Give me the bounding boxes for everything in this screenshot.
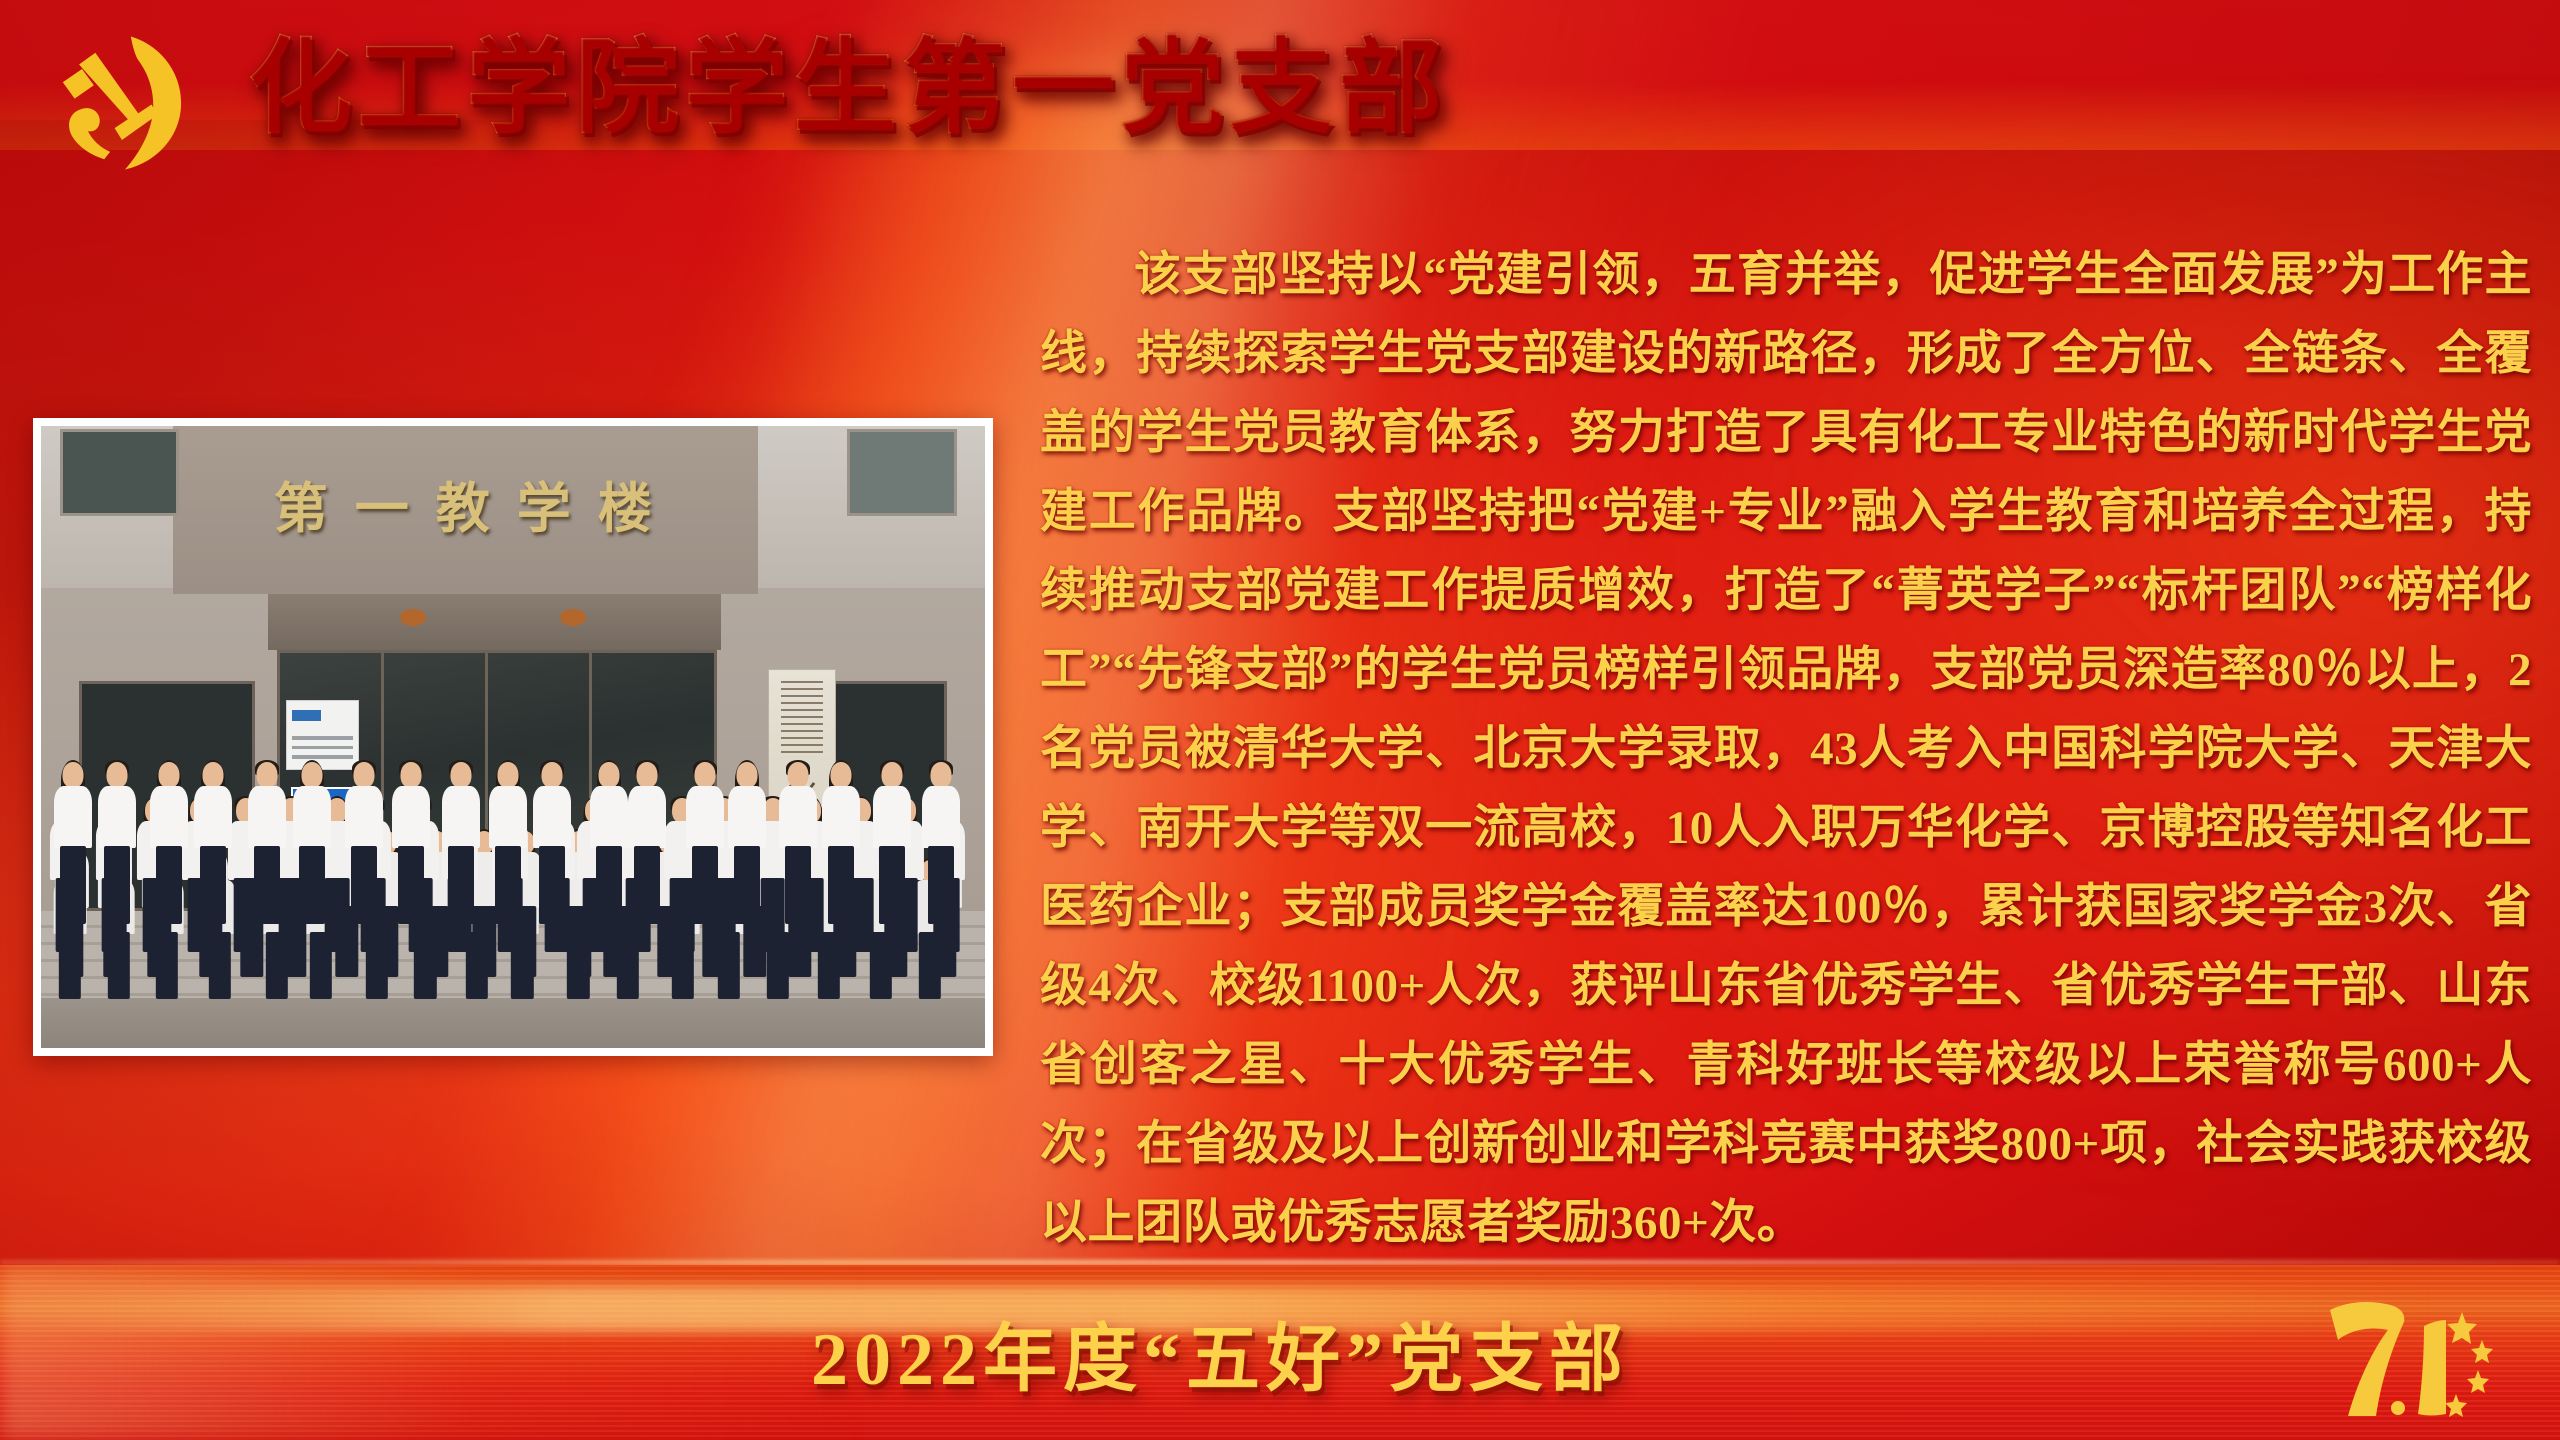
cpc-hammer-sickle-emblem <box>44 32 194 174</box>
photo-window-top-left <box>60 429 179 516</box>
photo-person <box>775 762 821 942</box>
july-first-party-founding-mark <box>2312 1282 2502 1432</box>
photo-group-members <box>41 731 985 1017</box>
photo-person <box>529 762 575 942</box>
photo-person <box>438 762 484 942</box>
photo-person <box>724 762 770 942</box>
photo-person <box>682 762 728 942</box>
banner-award-title: 2022年度“五好”党支部 <box>0 1265 2560 1440</box>
photo-building-name: 第 一 教 学 楼 <box>192 435 740 572</box>
header: 化工学院学生第一党支部 <box>0 0 2560 200</box>
photo-person <box>624 762 670 942</box>
poster-root: 化工学院学生第一党支部 第 一 教 学 楼 入口 <box>0 0 2560 1440</box>
group-photo-frame: 第 一 教 学 楼 入口 化 <box>33 418 993 1056</box>
description-paragraph: 该支部坚持以“党建引领，五育并举，促进学生全面发展”为工作主线，持续探索学生党支… <box>1040 236 2532 1263</box>
page-title: 化工学院学生第一党支部 <box>248 26 1447 153</box>
photo-person <box>388 762 434 942</box>
photo-person <box>146 762 192 942</box>
photo-person <box>50 762 96 942</box>
photo-person <box>485 762 531 942</box>
photo-person <box>289 762 335 942</box>
group-photo: 第 一 教 学 楼 入口 化 <box>41 426 985 1048</box>
bottom-banner: 2022年度“五好”党支部 <box>0 1265 2560 1440</box>
photo-person <box>818 762 864 942</box>
photo-person <box>94 762 140 942</box>
photo-person <box>190 762 236 942</box>
photo-entrance-canopy <box>268 594 721 650</box>
photo-person <box>341 762 387 942</box>
photo-person <box>918 762 964 942</box>
photo-person <box>244 762 290 942</box>
photo-person <box>869 762 915 942</box>
photo-window-top-right <box>847 429 957 516</box>
